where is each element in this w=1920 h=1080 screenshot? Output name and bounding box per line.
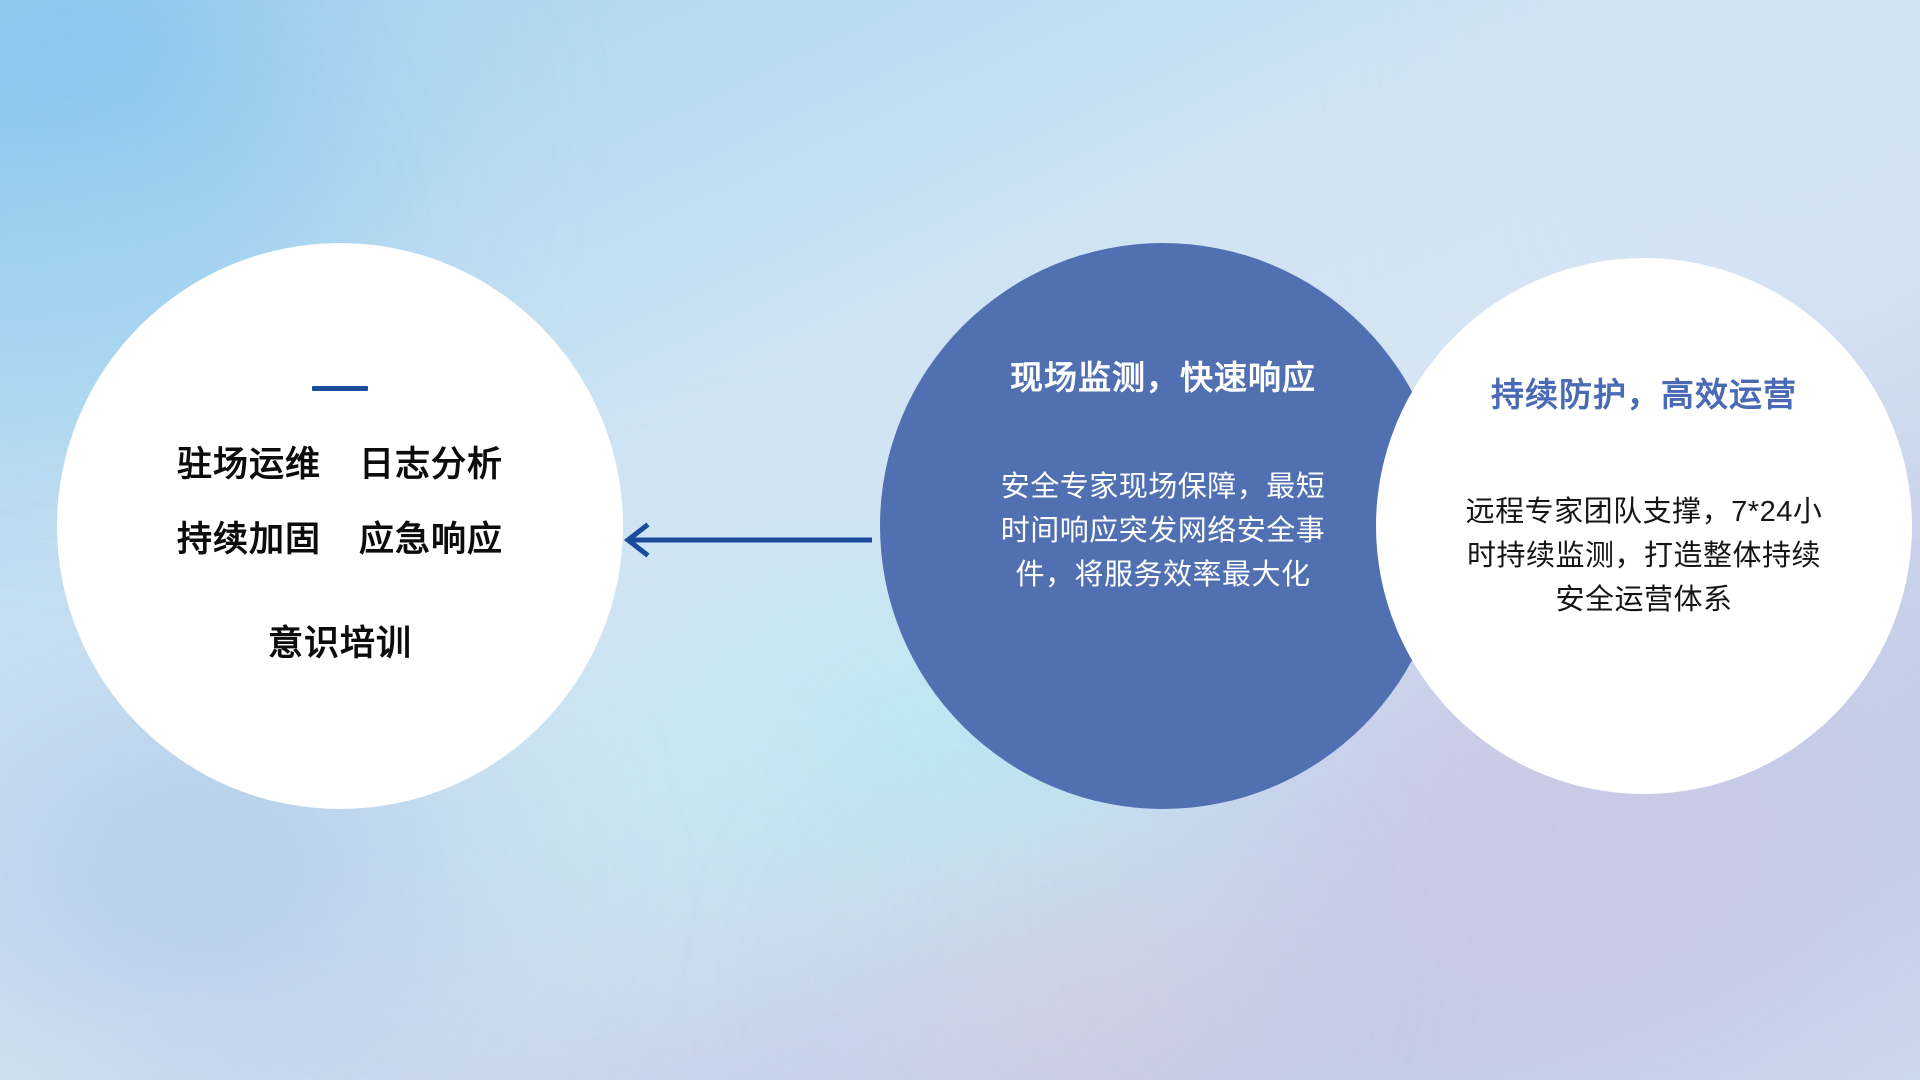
circle-body-text: 安全专家现场保障，最短时间响应突发网络安全事件，将服务效率最大化 bbox=[993, 465, 1333, 597]
connector-arrow bbox=[612, 520, 872, 560]
keyword-row: 持续加固 应急响应 bbox=[177, 522, 503, 557]
arrow-left-icon bbox=[612, 520, 872, 560]
keyword-item: 持续加固 bbox=[177, 522, 321, 557]
capability-circle-right-content: 持续防护，高效运营 远程专家团队支撑，7*24小时持续监测，打造整体持续安全运营… bbox=[1376, 258, 1912, 794]
accent-dash-icon bbox=[312, 386, 368, 391]
circle-body-text: 远程专家团队支撑，7*24小时持续监测，打造整体持续安全运营体系 bbox=[1454, 490, 1834, 622]
capability-circle-right[interactable]: 持续防护，高效运营 远程专家团队支撑，7*24小时持续监测，打造整体持续安全运营… bbox=[1376, 258, 1912, 794]
capability-circle-middle-content: 现场监测，快速响应 安全专家现场保障，最短时间响应突发网络安全事件，将服务效率最… bbox=[880, 243, 1446, 809]
slide-canvas: 驻场运维 日志分析 持续加固 应急响应 意识培训 现场监测，快速响应 安全专家现… bbox=[0, 0, 1920, 1080]
keyword-item: 日志分析 bbox=[359, 447, 503, 482]
capability-circle-left[interactable]: 驻场运维 日志分析 持续加固 应急响应 意识培训 bbox=[57, 243, 623, 809]
capability-circle-middle[interactable]: 现场监测，快速响应 安全专家现场保障，最短时间响应突发网络安全事件，将服务效率最… bbox=[880, 243, 1446, 809]
circle-title: 持续防护，高效运营 bbox=[1491, 368, 1797, 416]
capability-circle-left-content: 驻场运维 日志分析 持续加固 应急响应 意识培训 bbox=[57, 243, 623, 809]
circle-title: 现场监测，快速响应 bbox=[1010, 351, 1316, 399]
keyword-item: 意识培训 bbox=[268, 615, 412, 666]
keyword-item: 应急响应 bbox=[359, 522, 503, 557]
keyword-item: 驻场运维 bbox=[177, 447, 321, 482]
keyword-row: 驻场运维 日志分析 bbox=[177, 447, 503, 482]
